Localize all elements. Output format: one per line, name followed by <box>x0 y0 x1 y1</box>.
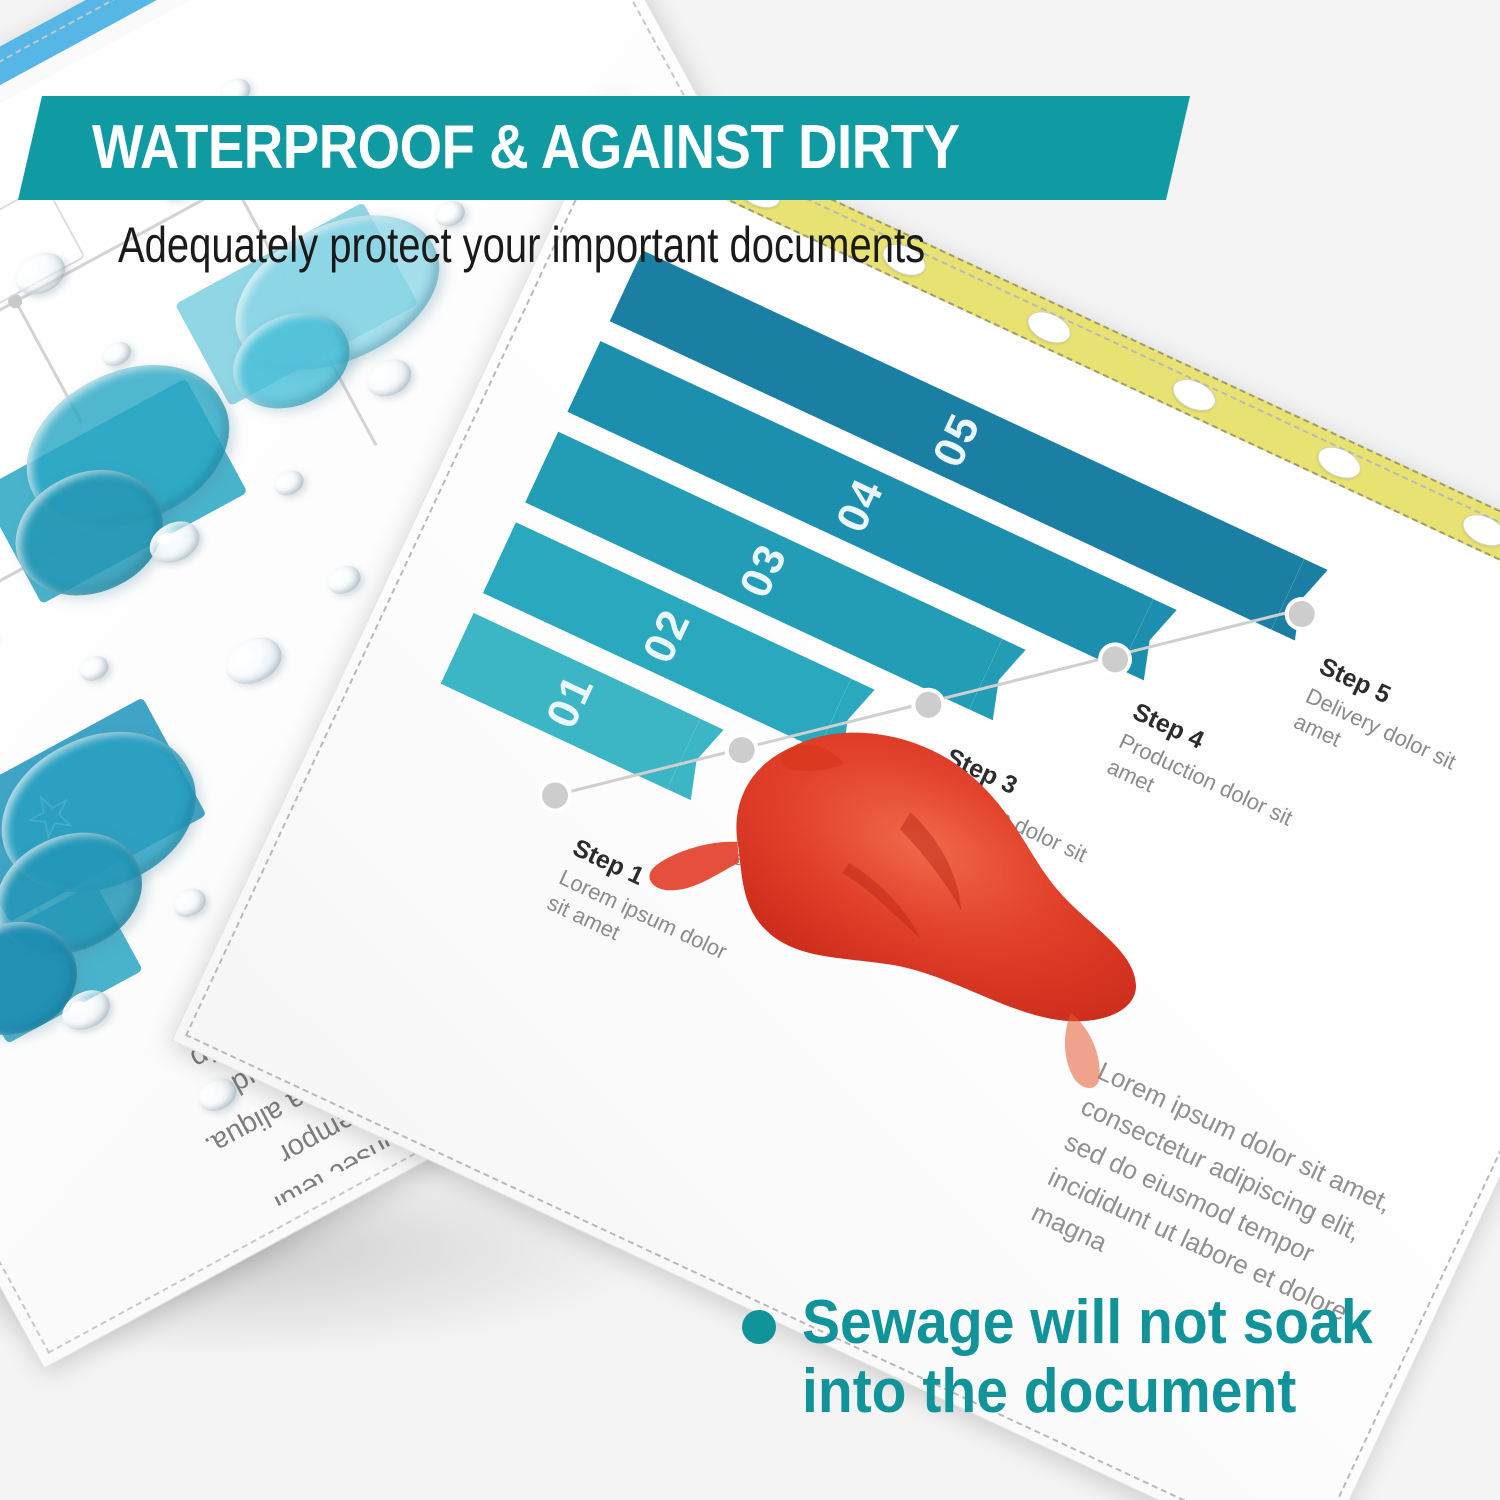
product-feature-image: ☆ das Lorem ipsum dolor sit Lorem ipsum … <box>0 0 1500 1500</box>
punch-hole <box>1022 305 1076 350</box>
bullet-dot-icon <box>742 1310 776 1344</box>
claim-line-2: into the document <box>802 1357 1373 1426</box>
page-subtitle: Adequately protect your important docume… <box>118 216 925 274</box>
banner-title: WATERPROOF & AGAINST DIRTY <box>92 117 960 179</box>
punch-hole <box>1167 373 1221 418</box>
timeline-step-4: Step 4 Production dolor sit amet <box>1103 698 1321 862</box>
punch-hole <box>1312 440 1366 485</box>
claim-text: Sewage will not soak into the document <box>802 1288 1373 1427</box>
timeline-step-1: Step 1 Lorem ipsum dolor sit amet <box>543 834 761 998</box>
claim-line-1: Sewage will not soak <box>802 1288 1373 1357</box>
timeline-step-3: Step 3 Decision dolor sit amet <box>916 743 1134 907</box>
claim-block: Sewage will not soak into the document <box>742 1288 1422 1427</box>
punch-hole <box>1457 508 1500 553</box>
banner-waterproof: WATERPROOF & AGAINST DIRTY <box>18 96 1190 200</box>
timeline-step-5: Step 5 Delivery dolor sit amet <box>1290 652 1500 816</box>
timeline-step-2: Step 2 Concept dolor sit amet <box>730 788 948 952</box>
